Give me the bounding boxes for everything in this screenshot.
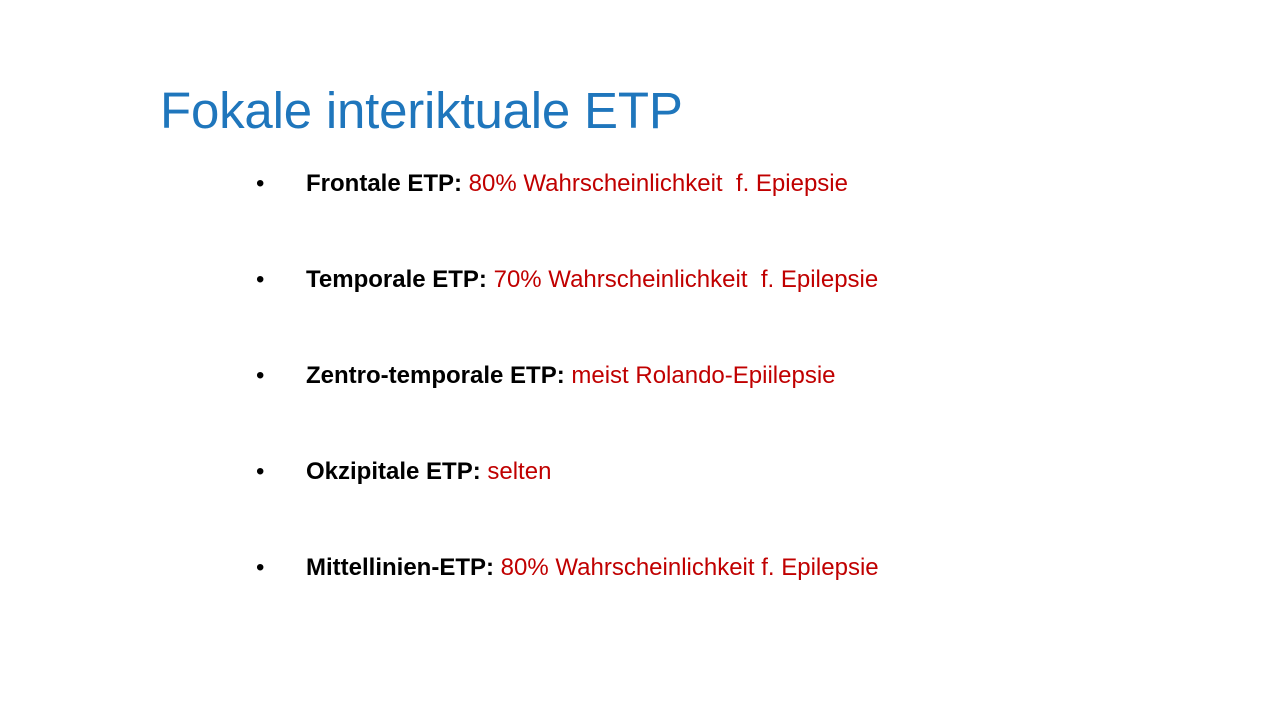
bullet-label: Temporale ETP: [306,266,487,293]
page-title: Fokale interiktuale ETP [160,82,1160,139]
bullet-label: Okzipitale ETP: [306,458,481,485]
bullet-text: Zentro-temporale ETP: meist Rolando-Epii… [306,360,1250,392]
bullet-point-icon: • [250,552,306,584]
bullet-text: Frontale ETP: 80% Wahrscheinlichkeit f. … [306,168,1250,200]
bullet-value: 80% Wahrscheinlichkeit f. Epilepsie [494,554,879,581]
bullet-value: selten [481,458,552,485]
list-item[interactable]: • Temporale ETP: 70% Wahrscheinlichkeit … [250,264,1250,360]
bullet-point-icon: • [250,360,306,392]
bullet-value: 80% Wahrscheinlichkeit f. Epiepsie [462,170,848,197]
list-item[interactable]: • Frontale ETP: 80% Wahrscheinlichkeit f… [250,168,1250,264]
list-item[interactable]: • Okzipitale ETP: selten [250,456,1250,552]
bullet-point-icon: • [250,456,306,488]
bullet-value: meist Rolando-Epiilepsie [565,362,836,389]
bullet-text: Okzipitale ETP: selten [306,456,1250,488]
bullet-text: Mittellinien-ETP: 80% Wahrscheinlichkeit… [306,552,1250,584]
bullet-label: Frontale ETP: [306,170,462,197]
bullet-label: Mittellinien-ETP: [306,554,494,581]
list-item[interactable]: • Mittellinien-ETP: 80% Wahrscheinlichke… [250,552,1250,648]
list-item[interactable]: • Zentro-temporale ETP: meist Rolando-Ep… [250,360,1250,456]
bullet-point-icon: • [250,264,306,296]
slide-canvas: Fokale interiktuale ETP • Frontale ETP: … [0,0,1280,720]
bullet-text: Temporale ETP: 70% Wahrscheinlichkeit f.… [306,264,1250,296]
bullet-value: 70% Wahrscheinlichkeit f. Epilepsie [487,266,878,293]
bullet-list: • Frontale ETP: 80% Wahrscheinlichkeit f… [250,168,1250,648]
bullet-label: Zentro-temporale ETP: [306,362,565,389]
bullet-point-icon: • [250,168,306,200]
